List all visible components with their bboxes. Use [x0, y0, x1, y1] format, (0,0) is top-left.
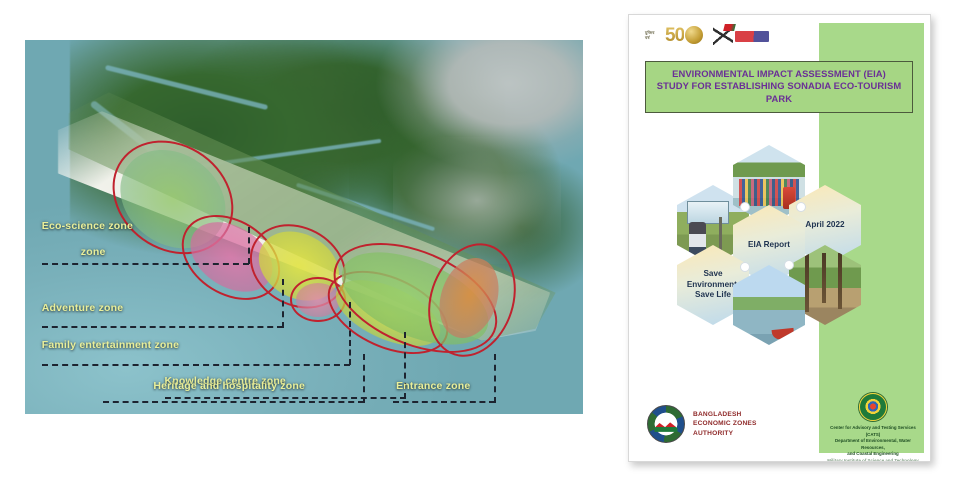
hexagon-eia-report-label: EIA Report — [744, 240, 794, 251]
cats-line3: and Coastal Engineering — [825, 451, 921, 458]
river-boat-icon — [771, 328, 793, 340]
leader-line-entrance — [393, 401, 495, 403]
leader-line-adventure — [42, 326, 283, 328]
leader-line-family — [349, 302, 351, 366]
hexagon-joint-dot — [741, 203, 749, 211]
cats-line2: Department of Environmental, Water Resou… — [825, 438, 921, 451]
golden-jubilee-caption: মুজিব বর্ষ — [645, 30, 655, 41]
cats-line1: Center for Advisory and Testing Services… — [825, 425, 921, 438]
leader-line-eco-science — [248, 227, 250, 264]
mist-seal-icon — [859, 393, 887, 421]
leader-line-adventure — [282, 279, 284, 328]
cover-title-line3: PARK — [651, 93, 907, 105]
leader-line-entrance — [494, 354, 496, 403]
cover-logo-row: মুজিব বর্ষ 50 — [645, 23, 785, 48]
golden-jubilee-number: 50 — [665, 25, 684, 47]
golden-jubilee-coin-icon — [685, 26, 703, 44]
hexagon-joint-dot — [741, 263, 749, 271]
leader-line-heritage — [103, 401, 364, 403]
leader-line-heritage — [363, 354, 365, 403]
beza-client-logo: BANGLADESH ECONOMIC ZONES AUTHORITY — [647, 401, 807, 447]
tree-trunk-icon — [838, 253, 842, 309]
beza-line2: ECONOMIC ZONES — [693, 419, 757, 429]
mujib-borsho-logo-icon — [711, 24, 771, 48]
cover-title-band: ENVIRONMENTAL IMPACT ASSESSMENT (EIA) ST… — [645, 61, 913, 113]
cats-consultant-text: Center for Advisory and Testing Services… — [825, 425, 921, 462]
zone-label-adventure: Adventure zone — [42, 302, 124, 314]
zone-label-eco-science: Eco-science zone — [42, 220, 133, 232]
eia-report-cover-document: মুজিব বর্ষ 50 ENVIRONMENTAL IMPACT ASSES… — [628, 14, 931, 462]
mujib-borsho-bangla-text — [735, 31, 769, 42]
cover-title-line1: ENVIRONMENTAL IMPACT ASSESSMENT (EIA) — [651, 68, 907, 80]
document-page: মুজিব বর্ষ 50 ENVIRONMENTAL IMPACT ASSES… — [628, 14, 931, 462]
leader-line-eco-science — [42, 263, 250, 265]
hexagon-joint-dot — [785, 261, 793, 269]
zone-label-entrance: Entrance zone — [396, 380, 470, 392]
cover-title-line2: STUDY FOR ESTABLISHING SONADIA ECO-TOURI… — [651, 80, 907, 92]
beza-seal-icon — [647, 405, 685, 443]
zoning-map-image: Eco-science zone zone Adventure zone Fam… — [25, 40, 583, 414]
tree-trunk-icon — [822, 253, 826, 303]
cover-hexagon-collage: April 2022 EIA Report Save Environment, … — [677, 145, 907, 345]
beza-line1: BANGLADESH — [693, 410, 757, 420]
signboard-icon — [687, 201, 729, 224]
hexagon-april-2022-label: April 2022 — [801, 220, 848, 231]
bangladesh-flag-icon — [723, 24, 736, 31]
hexagon-joint-dot — [797, 203, 805, 211]
tree-trunk-icon — [805, 253, 809, 312]
cats-line4: Military Institute of Science and Techno… — [825, 458, 921, 462]
leader-line-family — [42, 364, 350, 366]
zone-label-family-entertainment: Family entertainment zone — [42, 339, 179, 351]
golden-jubilee-50-icon: মুজিব বর্ষ 50 — [645, 25, 703, 47]
zone-label-eco-science-line2: zone — [81, 246, 106, 258]
beza-logo-text: BANGLADESH ECONOMIC ZONES AUTHORITY — [693, 410, 757, 439]
beza-line3: AUTHORITY — [693, 429, 757, 439]
leader-line-knowledge — [165, 397, 406, 399]
zone-label-heritage-hospitality-visible: Heritage and hospitality zone — [153, 380, 305, 392]
cats-consultant-block: Center for Advisory and Testing Services… — [825, 393, 921, 462]
